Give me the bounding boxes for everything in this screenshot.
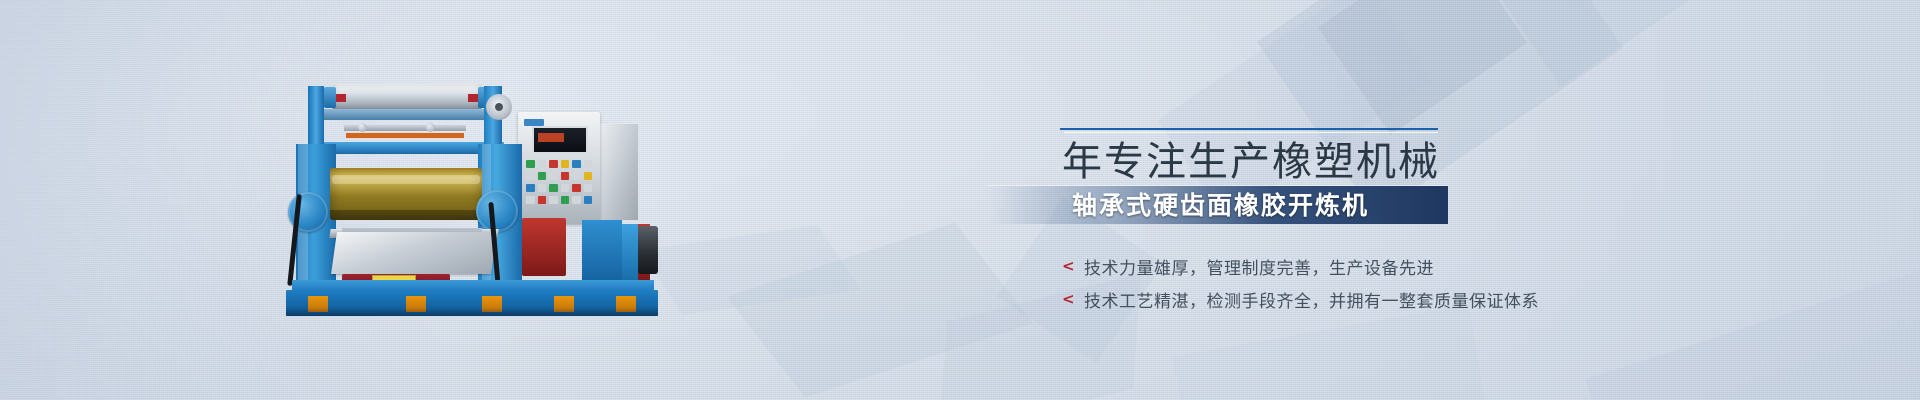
subtitle-text: 轴承式硬齿面橡胶开炼机 <box>1072 192 1492 220</box>
chevron-left-icon: < <box>1062 259 1084 274</box>
machine-electric-motor <box>638 226 658 274</box>
machine-display-screen <box>532 126 588 154</box>
feature-list: < 技术力量雄厚，管理制度完善，生产设备先进 < 技术工艺精湛，检测手段齐全，并… <box>1062 250 1722 316</box>
machine-roller-mark-left <box>336 94 346 102</box>
feature-item-2: < 技术工艺精湛，检测手段齐全，并拥有一整套质量保证体系 <box>1062 283 1722 316</box>
machine-top-roller <box>332 84 482 110</box>
machine-red-housing-left <box>522 218 566 276</box>
decor-polygon-9 <box>639 225 861 315</box>
machine-upper-beam <box>316 109 498 120</box>
machine-gearbox <box>582 220 622 286</box>
chevron-left-icon: < <box>1062 292 1084 307</box>
headline-text: 年专注生产橡塑机械 <box>1062 138 1682 186</box>
product-image-rubber-mixing-mill <box>286 98 658 316</box>
machine-base-shadow <box>286 308 658 316</box>
hero-banner: 年专注生产橡塑机械 轴承式硬齿面橡胶开炼机 < 技术力量雄厚，管理制度完善，生产… <box>0 0 1920 400</box>
feature-item-2-label: 技术工艺精湛，检测手段齐全，并拥有一整套质量保证体系 <box>1084 287 1539 312</box>
decor-polygon-10 <box>1173 305 1488 400</box>
decor-polygon-3 <box>1477 0 1694 87</box>
decor-polygon-2 <box>1318 0 1527 135</box>
machine-lower-beam <box>308 142 504 154</box>
feature-item-1: < 技术力量雄厚，管理制度完善，生产设备先进 <box>1062 250 1722 283</box>
machine-display-readout <box>538 133 564 142</box>
machine-knob-left <box>358 123 367 132</box>
headline-rule <box>1060 128 1438 130</box>
machine-roller-mark-right <box>468 94 478 102</box>
machine-button-row-4 <box>526 196 592 204</box>
machine-gearbox-flange <box>622 224 638 282</box>
machine-stainless-tray <box>331 232 497 274</box>
machine-orange-stripe <box>346 133 464 138</box>
machine-button-row-3 <box>526 184 592 192</box>
decor-polygon-6 <box>727 223 1034 398</box>
machine-knob-right <box>426 123 435 132</box>
machine-cabinet-badge <box>524 119 544 126</box>
machine-adjust-wheel-right <box>476 190 518 232</box>
feature-item-1-label: 技术力量雄厚，管理制度完善，生产设备先进 <box>1084 254 1434 279</box>
machine-button-row-2 <box>526 172 592 180</box>
machine-gold-roller-shadow <box>330 210 482 220</box>
machine-button-row-1 <box>526 160 592 168</box>
machine-roller-cap-left <box>324 87 336 108</box>
machine-gold-roller-highlight <box>332 175 480 184</box>
machine-fan-hub <box>495 103 503 111</box>
